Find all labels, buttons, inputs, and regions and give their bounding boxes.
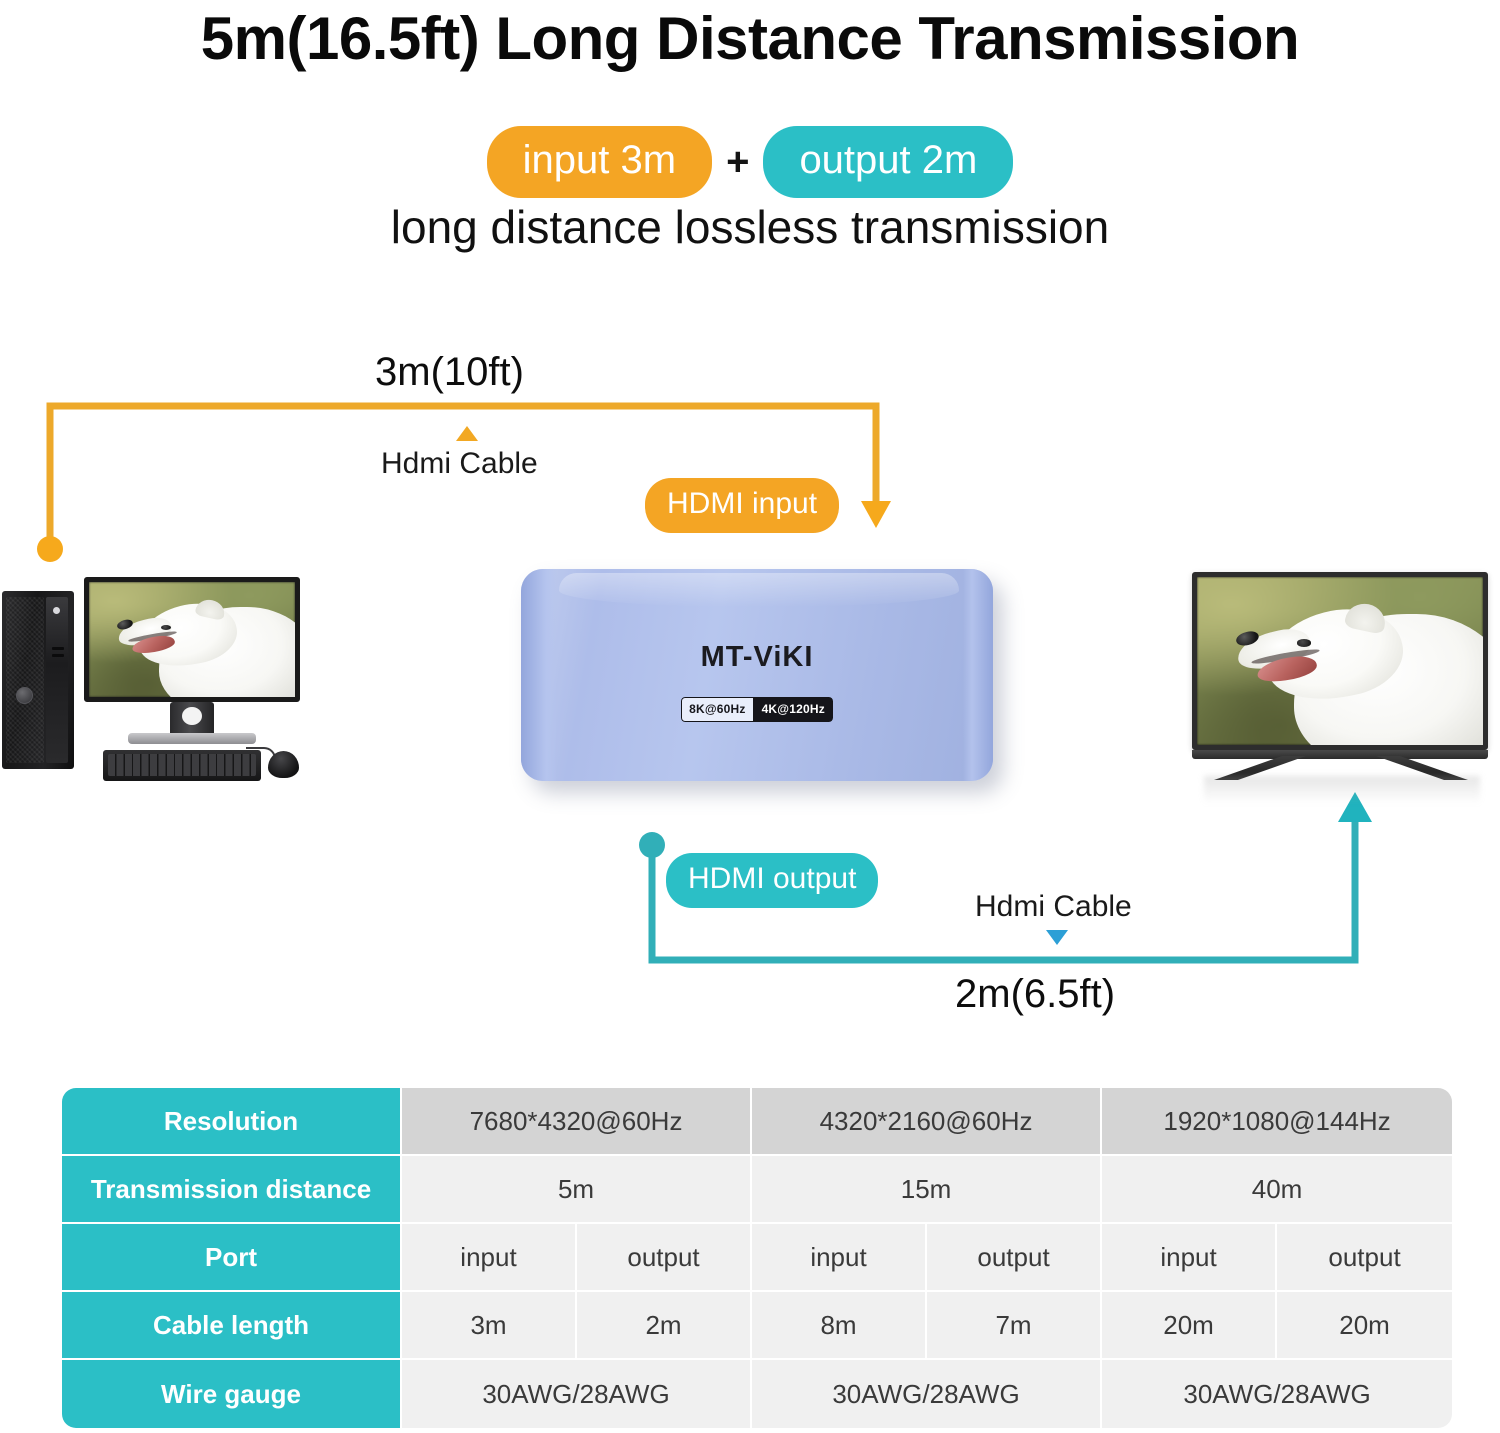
table-row: Resolution7680*4320@60Hz4320*2160@60Hz19… — [62, 1088, 1452, 1156]
table-row: Transmission distance5m15m40m — [62, 1156, 1452, 1224]
monitor-stand-base — [128, 733, 256, 744]
table-cell: 15m — [752, 1156, 1102, 1224]
table-header-cell: 4320*2160@60Hz — [752, 1088, 1102, 1156]
hdmi-output-tag: HDMI output — [666, 853, 878, 908]
triangle-up-icon — [456, 426, 478, 441]
table-cell: 20m — [1277, 1292, 1452, 1360]
dog-photo-monitor — [89, 582, 295, 697]
device-brand-label: MT-ViKI — [521, 641, 993, 674]
table-header-cell: 7680*4320@60Hz — [402, 1088, 752, 1156]
tower-side-panel — [46, 597, 68, 763]
tv-screen — [1192, 572, 1488, 750]
table-cell: 30AWG/28AWG — [1102, 1360, 1452, 1428]
monitor-screen — [84, 577, 300, 702]
table-row-label: Resolution — [62, 1088, 402, 1156]
input-distance-label: 3m(10ft) — [375, 350, 524, 395]
table-cell: input — [1102, 1224, 1277, 1292]
infographic-root: 5m(16.5ft) Long Distance Transmission in… — [0, 0, 1500, 1433]
table-cell: 2m — [577, 1292, 752, 1360]
tower-port-slot — [52, 654, 64, 657]
table-cell: 20m — [1102, 1292, 1277, 1360]
device-left-edge — [521, 569, 557, 781]
tower-port-slot — [52, 647, 64, 650]
device-gloss-highlight — [559, 573, 959, 607]
source-computer-group — [0, 565, 310, 785]
dog-photo-tv — [1197, 577, 1483, 745]
orange-arrow-head — [861, 501, 891, 528]
tower-power-led — [53, 607, 60, 614]
orange-endpoint-dot — [37, 536, 63, 562]
hdmi-cable-label-output: Hdmi Cable — [975, 890, 1132, 924]
table-cell: output — [1277, 1224, 1452, 1292]
table-cell: input — [752, 1224, 927, 1292]
table-cell: 8m — [752, 1292, 927, 1360]
table-cell: 40m — [1102, 1156, 1452, 1224]
table-row: Wire gauge30AWG/28AWG30AWG/28AWG30AWG/28… — [62, 1360, 1452, 1428]
specification-table: Resolution7680*4320@60Hz4320*2160@60Hz19… — [62, 1088, 1452, 1428]
table-cell: 7m — [927, 1292, 1102, 1360]
table-row: Cable length3m2m8m7m20m20m — [62, 1292, 1452, 1360]
spec-badge-group: 8K@60Hz 4K@120Hz — [681, 697, 833, 722]
table-cell: 30AWG/28AWG — [402, 1360, 752, 1428]
table-cell: output — [577, 1224, 752, 1292]
device-spec-badges: 8K@60Hz 4K@120Hz — [521, 697, 993, 722]
tower-logo-icon — [16, 687, 33, 704]
device-right-edge — [963, 569, 993, 781]
tv-bottom-bezel — [1192, 750, 1488, 759]
desktop-tower-icon — [2, 591, 74, 769]
dog-eye — [1297, 639, 1311, 646]
output-distance-label: 2m(6.5ft) — [955, 972, 1115, 1017]
mouse-icon — [268, 751, 299, 778]
table-cell: 30AWG/28AWG — [752, 1360, 1102, 1428]
table-row-label: Port — [62, 1224, 402, 1292]
display-tv-group — [1186, 560, 1496, 795]
dog-eye — [161, 625, 171, 630]
spec-table-element: Resolution7680*4320@60Hz4320*2160@60Hz19… — [62, 1088, 1452, 1428]
table-cell: output — [927, 1224, 1102, 1292]
table-row: Portinputoutputinputoutputinputoutput — [62, 1224, 1452, 1292]
connection-diagram: 3m(10ft) 2m(6.5ft) Hdmi Cable Hdmi Cable… — [0, 0, 1500, 1085]
hdmi-switch-device: MT-ViKI 8K@60Hz 4K@120Hz — [521, 569, 993, 781]
monitor-stand-neck — [170, 702, 214, 736]
hdmi-cable-label-input: Hdmi Cable — [381, 447, 538, 481]
teal-endpoint-dot — [639, 832, 665, 858]
table-row-label: Wire gauge — [62, 1360, 402, 1428]
keyboard-icon — [103, 750, 261, 781]
tv-reflection — [1204, 776, 1480, 804]
table-cell: 5m — [402, 1156, 752, 1224]
connection-lines-svg — [0, 0, 1500, 1085]
table-row-label: Transmission distance — [62, 1156, 402, 1224]
spec-badge-8k: 8K@60Hz — [681, 697, 753, 722]
hdmi-input-tag: HDMI input — [645, 478, 839, 533]
triangle-down-icon — [1046, 930, 1068, 945]
table-row-label: Cable length — [62, 1292, 402, 1360]
table-cell: input — [402, 1224, 577, 1292]
table-header-cell: 1920*1080@144Hz — [1102, 1088, 1452, 1156]
spec-table-body: Resolution7680*4320@60Hz4320*2160@60Hz19… — [62, 1088, 1452, 1428]
table-cell: 3m — [402, 1292, 577, 1360]
spec-badge-4k: 4K@120Hz — [754, 697, 833, 722]
